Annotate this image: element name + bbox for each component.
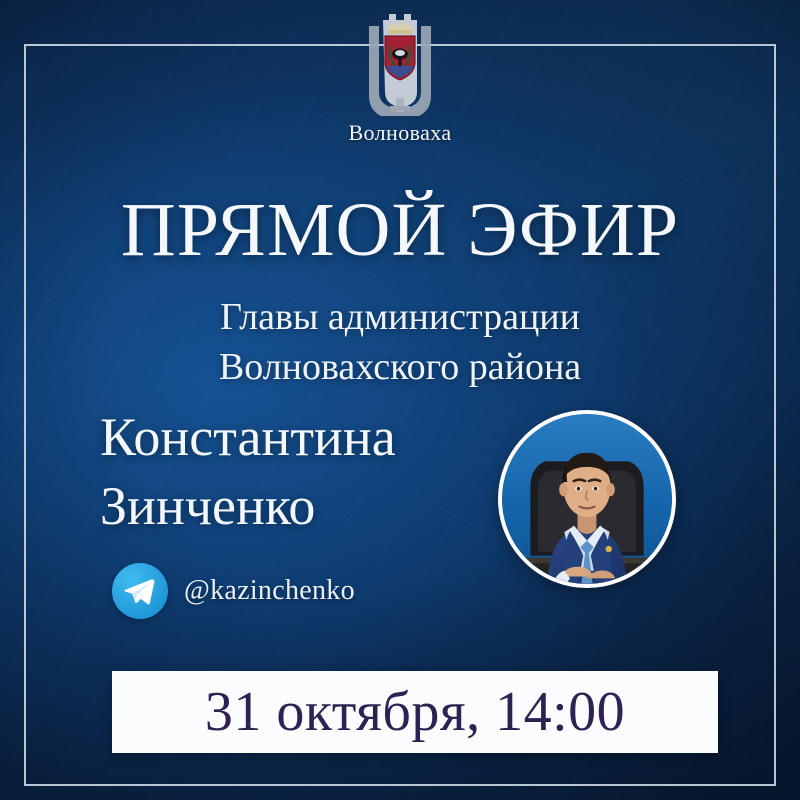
telegram-contact[interactable]: @kazinchenko <box>112 563 355 619</box>
speaker-name-line-2: Зинченко <box>100 472 510 541</box>
coat-of-arms-icon <box>357 8 443 116</box>
page-title: ПРЯМОЙ ЭФИР <box>0 192 800 268</box>
speaker-name-line-1: Константина <box>100 403 510 472</box>
speaker-name: Константина Зинченко <box>100 403 510 541</box>
emblem-block: Волноваха <box>0 8 800 146</box>
subtitle: Главы администрации Волновахского района <box>0 292 800 392</box>
subtitle-line-1: Главы администрации <box>0 292 800 342</box>
date-time-text: 31 октября, 14:00 <box>205 684 625 740</box>
avatar <box>498 410 676 588</box>
telegram-icon[interactable] <box>112 563 168 619</box>
emblem-caption: Волноваха <box>348 120 451 146</box>
subtitle-line-2: Волновахского района <box>0 342 800 392</box>
live-broadcast-poster: Волноваха ПРЯМОЙ ЭФИР Главы администраци… <box>0 0 800 800</box>
date-time-banner: 31 октября, 14:00 <box>112 671 718 753</box>
telegram-handle[interactable]: @kazinchenko <box>184 575 355 607</box>
